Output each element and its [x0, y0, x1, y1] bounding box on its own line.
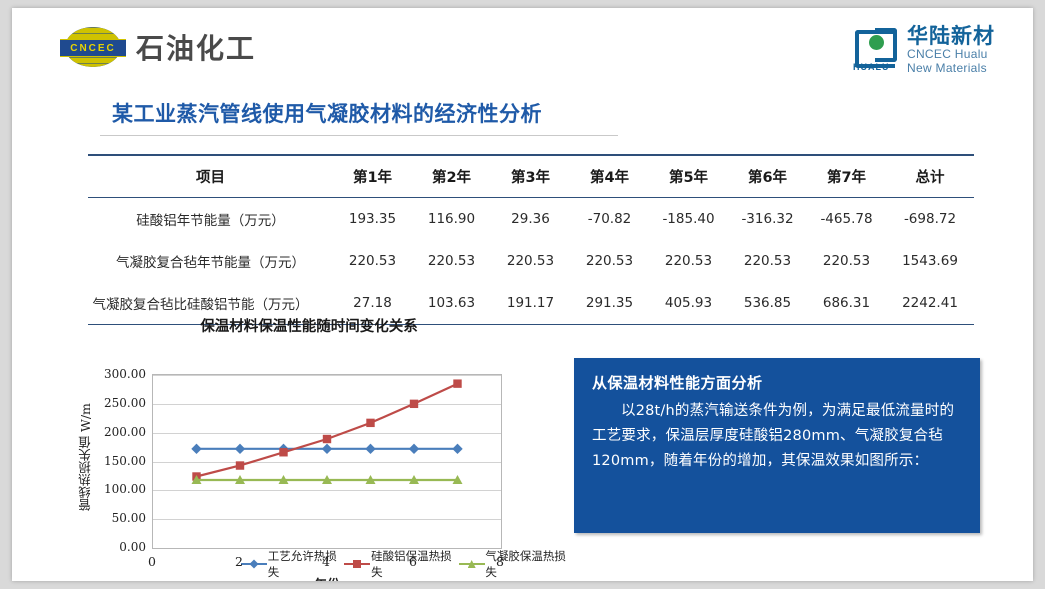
x-tick-label: 0 [148, 554, 156, 569]
cell: 2242.41 [886, 282, 974, 325]
series-marker [235, 444, 245, 454]
x-tick-label: 2 [235, 554, 243, 569]
col-header-5: 第5年 [649, 155, 728, 198]
y-tick-label: 150.00 [104, 454, 146, 468]
brand-hualu: HUALU 华陆新材 CNCEC Hualu New Materials [853, 24, 995, 76]
row-label: 硅酸铝年节能量（万元） [88, 198, 333, 241]
x-tick-label: 4 [322, 554, 330, 569]
cell: 220.53 [491, 240, 570, 282]
y-tick-label: 300.00 [104, 367, 146, 381]
series-marker [323, 435, 331, 443]
cell: 116.90 [412, 198, 491, 241]
col-header-7: 第7年 [807, 155, 886, 198]
table-body: 硅酸铝年节能量（万元） 193.35 116.90 29.36 -70.82 -… [88, 198, 974, 325]
col-header-1: 第1年 [333, 155, 412, 198]
insulation-performance-chart: 保温材料保温性能随时间变化关系 管线热损失值 W/m 0.0050.00100.… [74, 313, 544, 575]
col-header-4: 第4年 [570, 155, 649, 198]
series-marker [365, 444, 375, 454]
cell: -185.40 [649, 198, 728, 241]
page-title: 某工业蒸汽管线使用气凝胶材料的经济性分析 [112, 98, 542, 128]
chart-series-layer [153, 375, 501, 548]
series-marker [452, 444, 462, 454]
cell: 536.85 [728, 282, 807, 325]
chart-x-ticks: 02468 [152, 554, 502, 572]
cell: 220.53 [728, 240, 807, 282]
cell: 291.35 [570, 282, 649, 325]
series-marker [236, 461, 244, 469]
series-marker [279, 448, 287, 456]
cell: 220.53 [649, 240, 728, 282]
hualu-chinese-name: 华陆新材 [907, 24, 995, 48]
table-row: 气凝胶复合毡年节能量（万元） 220.53 220.53 220.53 220.… [88, 240, 974, 282]
economics-table-wrap: 项目 第1年 第2年 第3年 第4年 第5年 第6年 第7年 总计 硅酸铝年节能… [88, 154, 965, 325]
x-tick-label: 8 [496, 554, 504, 569]
hualu-english-line2: New Materials [907, 62, 995, 76]
cell: -316.32 [728, 198, 807, 241]
cncec-chinese-name: 石油化工 [136, 27, 256, 67]
col-header-3: 第3年 [491, 155, 570, 198]
series-marker [409, 444, 419, 454]
x-tick-label: 6 [409, 554, 417, 569]
series-marker [453, 379, 461, 387]
hualu-english-line1: CNCEC Hualu [907, 48, 995, 62]
series-marker [366, 419, 374, 427]
series-marker [322, 444, 332, 454]
table-row: 硅酸铝年节能量（万元） 193.35 116.90 29.36 -70.82 -… [88, 198, 974, 241]
y-tick-label: 100.00 [104, 482, 146, 496]
hualu-logo-icon: HUALU [853, 28, 899, 72]
chart-title: 保温材料保温性能随时间变化关系 [74, 315, 544, 336]
analysis-note-box: 从保温材料性能方面分析 以28t/h的蒸汽输送条件为例，为满足最低流量时的工艺要… [574, 358, 980, 533]
series-marker [191, 444, 201, 454]
cell: 220.53 [333, 240, 412, 282]
table-header-row: 项目 第1年 第2年 第3年 第4年 第5年 第6年 第7年 总计 [88, 155, 974, 198]
cell: 220.53 [570, 240, 649, 282]
col-header-2: 第2年 [412, 155, 491, 198]
col-header-6: 第6年 [728, 155, 807, 198]
row-label: 气凝胶复合毡年节能量（万元） [88, 240, 333, 282]
cell: -698.72 [886, 198, 974, 241]
cell: 29.36 [491, 198, 570, 241]
chart-x-axis-label: 年份 [152, 574, 502, 581]
analysis-note-title: 从保温材料性能方面分析 [592, 372, 962, 393]
cell: 193.35 [333, 198, 412, 241]
chart-y-axis-label: 管线热损失值 W/m [76, 382, 96, 532]
analysis-note-body: 以28t/h的蒸汽输送条件为例，为满足最低流量时的工艺要求，保温层厚度硅酸铝28… [592, 399, 962, 474]
y-tick-label: 250.00 [104, 396, 146, 410]
series-marker [410, 400, 418, 408]
col-header-8: 总计 [886, 155, 974, 198]
cell: 686.31 [807, 282, 886, 325]
cell: 220.53 [412, 240, 491, 282]
cncec-logo-text: CNCEC [60, 39, 126, 57]
hualu-logo-mark-text: HUALU [853, 62, 890, 72]
col-header-0: 项目 [88, 155, 333, 198]
chart-plot-area: 工艺允许热损失硅酸铝保温热损失气凝胶保温热损失 [152, 374, 502, 549]
cell: -465.78 [807, 198, 886, 241]
cell: 220.53 [807, 240, 886, 282]
y-tick-label: 200.00 [104, 425, 146, 439]
slide: CNCEC 石油化工 HUALU 华陆新材 CNCEC Hualu New Ma… [12, 8, 1033, 581]
cell: 405.93 [649, 282, 728, 325]
title-divider [100, 135, 618, 136]
brand-cncec: CNCEC 石油化工 [60, 26, 256, 68]
cell: -70.82 [570, 198, 649, 241]
economics-table: 项目 第1年 第2年 第3年 第4年 第5年 第6年 第7年 总计 硅酸铝年节能… [88, 154, 974, 325]
y-tick-label: 50.00 [112, 511, 146, 525]
y-tick-label: 0.00 [119, 540, 146, 554]
cncec-logo-icon: CNCEC [60, 26, 126, 68]
series-line [197, 384, 458, 477]
cell: 1543.69 [886, 240, 974, 282]
